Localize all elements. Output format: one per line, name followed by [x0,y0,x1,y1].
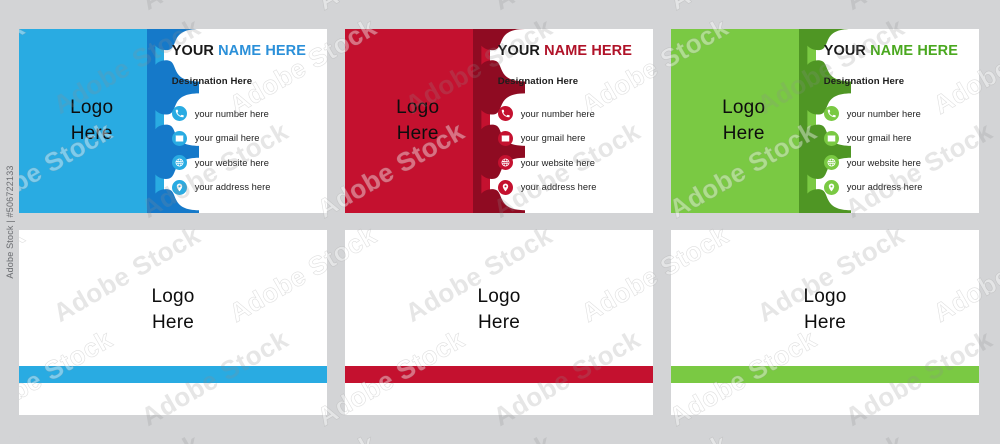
card-name-rest: NAME HERE [870,43,958,59]
contact-row-phone[interactable]: your number here [498,106,650,121]
card-info-pane: YOUR NAME HERE Designation Here your num… [164,29,327,213]
globe-icon [172,155,187,170]
logo-line-1: Logo [396,95,439,121]
business-card-front-blue[interactable]: Logo Here YOUR NAME HERE Designation Her… [19,29,327,213]
mail-icon [824,131,839,146]
watermark-text: Adobe Stock [48,428,206,444]
contact-label: your website here [521,158,595,168]
card-logo-placeholder: Logo Here [671,29,816,213]
watermark-text: Adobe Stock [840,0,998,17]
logo-line-1: Logo [803,284,846,310]
logo-line-2: Here [397,121,439,147]
contact-list: your number hereyour gmail hereyour webs… [498,106,650,204]
card-designation: Designation Here [498,76,579,87]
logo-line-1: Logo [722,95,765,121]
contact-row-mail[interactable]: your gmail here [498,131,650,146]
card-name: YOUR NAME HERE [172,43,306,59]
contact-row-globe[interactable]: your website here [498,155,650,170]
location-icon [172,180,187,195]
logo-line-2: Here [152,310,194,336]
contact-list: your number hereyour gmail hereyour webs… [172,106,324,204]
contact-label: your address here [521,182,597,192]
contact-label: your gmail here [847,133,912,143]
card-logo-placeholder: Logo Here [19,230,327,415]
contact-row-location[interactable]: your address here [498,180,650,195]
watermark-text: Adobe Stock [224,428,382,444]
watermark-text: Adobe Stock [928,428,1000,444]
watermark-text: Adobe Stock [312,0,470,17]
card-name-first: YOUR [172,43,218,59]
contact-row-location[interactable]: your address here [824,180,976,195]
contact-label: your website here [847,158,921,168]
logo-line-2: Here [723,121,765,147]
contact-row-phone[interactable]: your number here [172,106,324,121]
globe-icon [824,155,839,170]
logo-line-1: Logo [151,284,194,310]
contact-row-globe[interactable]: your website here [824,155,976,170]
card-logo-placeholder: Logo Here [671,230,979,415]
business-card-front-red[interactable]: Logo Here YOUR NAME HERE Designation Her… [345,29,653,213]
stock-id-strip: Adobe Stock | #506722133 [0,0,19,444]
card-logo-placeholder: Logo Here [345,29,490,213]
watermark-text: Adobe Stock [752,428,910,444]
accent-bar [671,366,979,383]
card-name: YOUR NAME HERE [824,43,958,59]
contact-row-location[interactable]: your address here [172,180,324,195]
logo-line-1: Logo [477,284,520,310]
mail-icon [172,131,187,146]
contact-row-phone[interactable]: your number here [824,106,976,121]
contact-label: your gmail here [195,133,260,143]
watermark-text: Adobe Stock [576,428,734,444]
contact-row-mail[interactable]: your gmail here [824,131,976,146]
contact-label: your website here [195,158,269,168]
logo-line-2: Here [71,121,113,147]
business-card-back-red-back[interactable]: Logo Here [345,230,653,415]
location-icon [824,180,839,195]
watermark-text: Adobe Stock [136,0,294,17]
contact-row-globe[interactable]: your website here [172,155,324,170]
template-sheet: Logo Here YOUR NAME HERE Designation Her… [0,0,1000,444]
globe-icon [498,155,513,170]
watermark-text: Adobe Stock [664,0,822,17]
accent-bar [19,366,327,383]
business-card-back-blue-back[interactable]: Logo Here [19,230,327,415]
watermark-text: Adobe Stock [488,0,646,17]
logo-line-1: Logo [70,95,113,121]
stock-id-text: Adobe Stock | #506722133 [5,165,15,278]
card-name: YOUR NAME HERE [498,43,632,59]
card-logo-placeholder: Logo Here [345,230,653,415]
contact-row-mail[interactable]: your gmail here [172,131,324,146]
business-card-back-green-back[interactable]: Logo Here [671,230,979,415]
card-name-rest: NAME HERE [218,43,306,59]
card-info-pane: YOUR NAME HERE Designation Here your num… [490,29,653,213]
location-icon [498,180,513,195]
accent-bar [345,366,653,383]
card-designation: Designation Here [172,76,253,87]
phone-icon [172,106,187,121]
logo-line-2: Here [478,310,520,336]
contact-label: your gmail here [521,133,586,143]
contact-label: your number here [195,109,269,119]
contact-label: your address here [195,182,271,192]
phone-icon [824,106,839,121]
contact-label: your number here [847,109,921,119]
phone-icon [498,106,513,121]
logo-line-2: Here [804,310,846,336]
watermark-text: Adobe Stock [400,428,558,444]
card-designation: Designation Here [824,76,905,87]
card-logo-placeholder: Logo Here [19,29,164,213]
contact-label: your number here [521,109,595,119]
contact-label: your address here [847,182,923,192]
mail-icon [498,131,513,146]
card-name-first: YOUR [498,43,544,59]
card-info-pane: YOUR NAME HERE Designation Here your num… [816,29,979,213]
card-name-first: YOUR [824,43,870,59]
card-name-rest: NAME HERE [544,43,632,59]
business-card-front-green[interactable]: Logo Here YOUR NAME HERE Designation Her… [671,29,979,213]
contact-list: your number hereyour gmail hereyour webs… [824,106,976,204]
